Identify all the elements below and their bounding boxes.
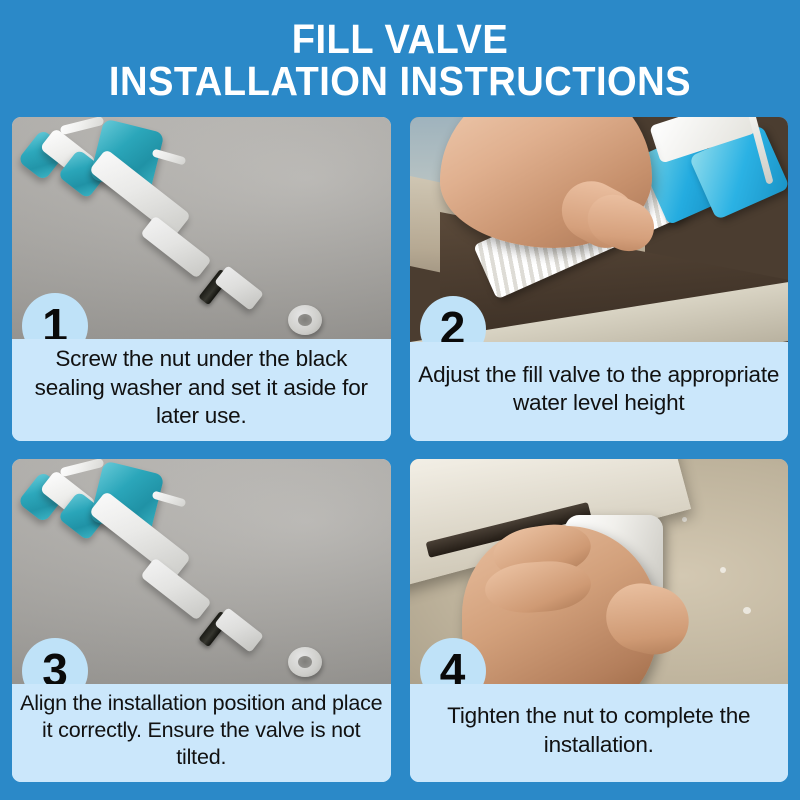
step-number-1: 1 xyxy=(42,302,68,339)
title-line-1: FILL VALVE xyxy=(28,18,772,60)
infographic-page: FILL VALVE INSTALLATION INSTRUCTIONS xyxy=(0,0,800,800)
valve-refill-tube-icon xyxy=(60,117,105,135)
step-card-1: 1 Screw the nut under the black sealing … xyxy=(12,117,391,441)
title-line-2: INSTALLATION INSTRUCTIONS xyxy=(28,60,772,102)
page-title: FILL VALVE INSTALLATION INSTRUCTIONS xyxy=(0,18,800,102)
step-caption-text-3: Align the installation position and plac… xyxy=(20,690,383,771)
speckle xyxy=(720,567,726,573)
valve-refill-tube-icon xyxy=(60,459,105,477)
valve-teal-mid-icon xyxy=(58,149,109,199)
speckle xyxy=(682,517,687,522)
valve-side-arm-icon xyxy=(152,490,187,507)
step-photo-1: 1 xyxy=(12,117,391,339)
valve-cap-icon xyxy=(17,470,68,522)
nut-icon xyxy=(288,305,322,335)
step-photo-3: 3 xyxy=(12,459,391,684)
black-sealing-washer xyxy=(198,269,230,305)
step-photo-2: 2 xyxy=(410,117,789,342)
step-caption-text-2: Adjust the fill valve to the appropriate… xyxy=(418,361,781,418)
step-card-4: 4 Tighten the nut to complete the instal… xyxy=(410,459,789,783)
valve-shank-lower-icon xyxy=(140,215,212,278)
black-sealing-washer xyxy=(198,610,230,646)
valve-threaded-tip-icon xyxy=(214,607,264,653)
valve-side-arm-icon xyxy=(152,148,187,165)
valve-teal-mid-icon xyxy=(58,490,109,540)
valve-shank-lower-icon xyxy=(140,557,212,620)
valve-threaded-tip-icon xyxy=(214,265,264,311)
step-number-2: 2 xyxy=(440,305,466,342)
valve-collar-icon xyxy=(40,469,97,522)
steps-grid: 1 Screw the nut under the black sealing … xyxy=(12,117,788,782)
valve-teal-head-icon xyxy=(89,118,164,193)
valve-shank-upper-icon xyxy=(89,490,191,579)
nut-icon xyxy=(288,647,322,677)
valve-collar-icon xyxy=(40,128,97,181)
step-caption-text-4: Tighten the nut to complete the installa… xyxy=(418,702,781,759)
step-card-2: 2 Adjust the fill valve to the appropria… xyxy=(410,117,789,441)
valve-cap-icon xyxy=(17,129,68,181)
step-number-3: 3 xyxy=(42,647,68,684)
speckle xyxy=(743,607,751,614)
step-caption-box-4: Tighten the nut to complete the installa… xyxy=(410,684,789,783)
step-caption-box-3: Align the installation position and plac… xyxy=(12,684,391,783)
valve-shank-upper-icon xyxy=(89,149,191,238)
step-caption-box-2: Adjust the fill valve to the appropriate… xyxy=(410,342,789,441)
step-number-4: 4 xyxy=(440,647,466,684)
step-photo-4: 4 xyxy=(410,459,789,684)
step-caption-box-1: Screw the nut under the black sealing wa… xyxy=(12,339,391,440)
step-caption-text-1: Screw the nut under the black sealing wa… xyxy=(20,345,383,430)
valve-teal-head-icon xyxy=(89,460,164,535)
step-card-3: 3 Align the installation position and pl… xyxy=(12,459,391,783)
